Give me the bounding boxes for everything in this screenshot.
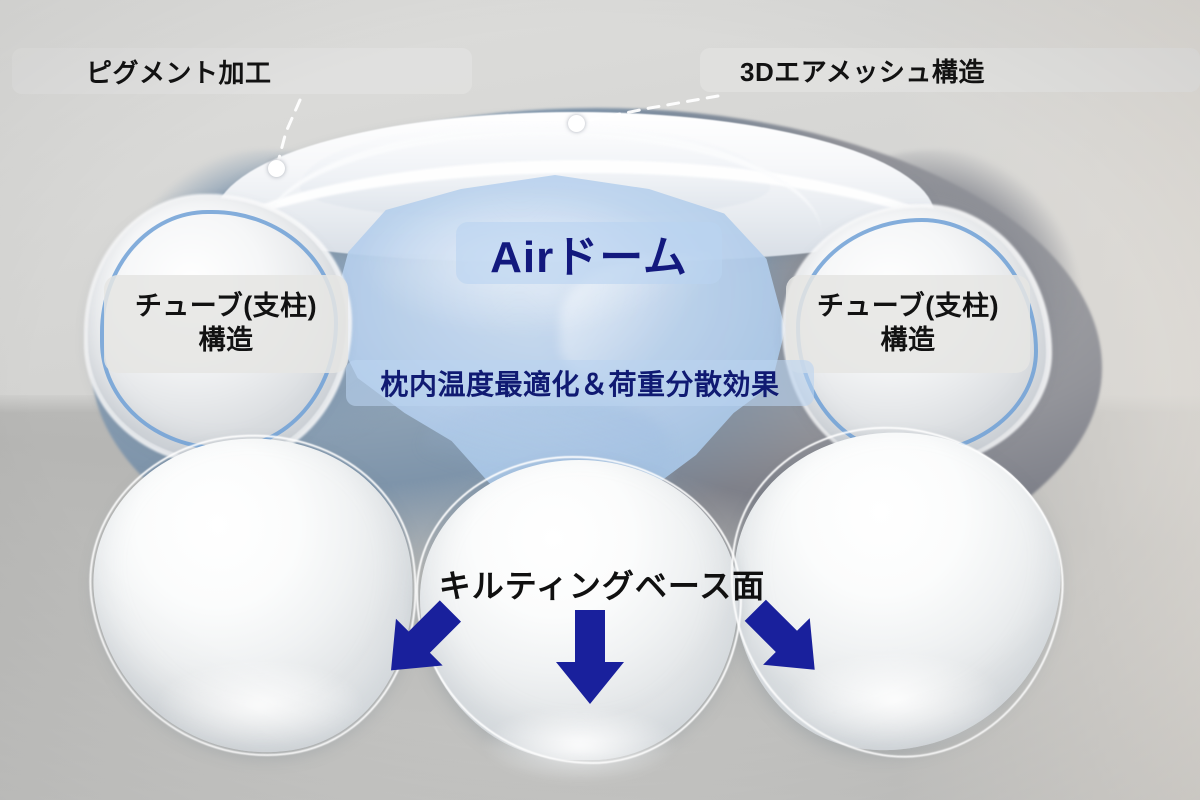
annotation-tube-left-line2: 構造 bbox=[199, 324, 254, 358]
annotation-quilting-label: キルティングベース面 bbox=[439, 561, 765, 607]
annotation-tube-left-line1: チューブ(支柱) bbox=[135, 290, 317, 324]
annotation-tube-structure-left: チューブ(支柱) 構造 bbox=[104, 275, 348, 373]
callout-dot-pigment bbox=[268, 160, 285, 177]
callout-dot-mesh bbox=[568, 115, 585, 132]
annotation-effect-label: 枕内温度最適化＆荷重分散効果 bbox=[380, 363, 779, 403]
annotation-pigment-processing: ピグメント加工 bbox=[12, 48, 472, 94]
annotation-air-dome-label: Airドーム bbox=[490, 221, 688, 285]
annotation-3d-air-mesh: 3Dエアメッシュ構造 bbox=[700, 48, 1200, 92]
annotation-pigment-label: ピグメント加工 bbox=[86, 53, 272, 90]
annotation-tube-right-line2: 構造 bbox=[881, 324, 936, 358]
annotation-temperature-and-load-effect: 枕内温度最適化＆荷重分散効果 bbox=[346, 360, 814, 406]
annotation-tube-structure-right: チューブ(支柱) 構造 bbox=[786, 275, 1030, 373]
annotation-air-dome: Airドーム bbox=[456, 222, 722, 284]
arrow-down-left-icon bbox=[368, 596, 478, 686]
pillow-cutaway-figure: ピグメント加工 3Dエアメッシュ構造 チューブ(支柱) 構造 チューブ(支柱) … bbox=[0, 0, 1200, 800]
annotation-mesh-label: 3Dエアメッシュ構造 bbox=[740, 52, 985, 89]
arrow-down-icon bbox=[545, 608, 635, 708]
arrow-down-right-icon bbox=[730, 596, 840, 686]
annotation-tube-right-line1: チューブ(支柱) bbox=[817, 290, 999, 324]
